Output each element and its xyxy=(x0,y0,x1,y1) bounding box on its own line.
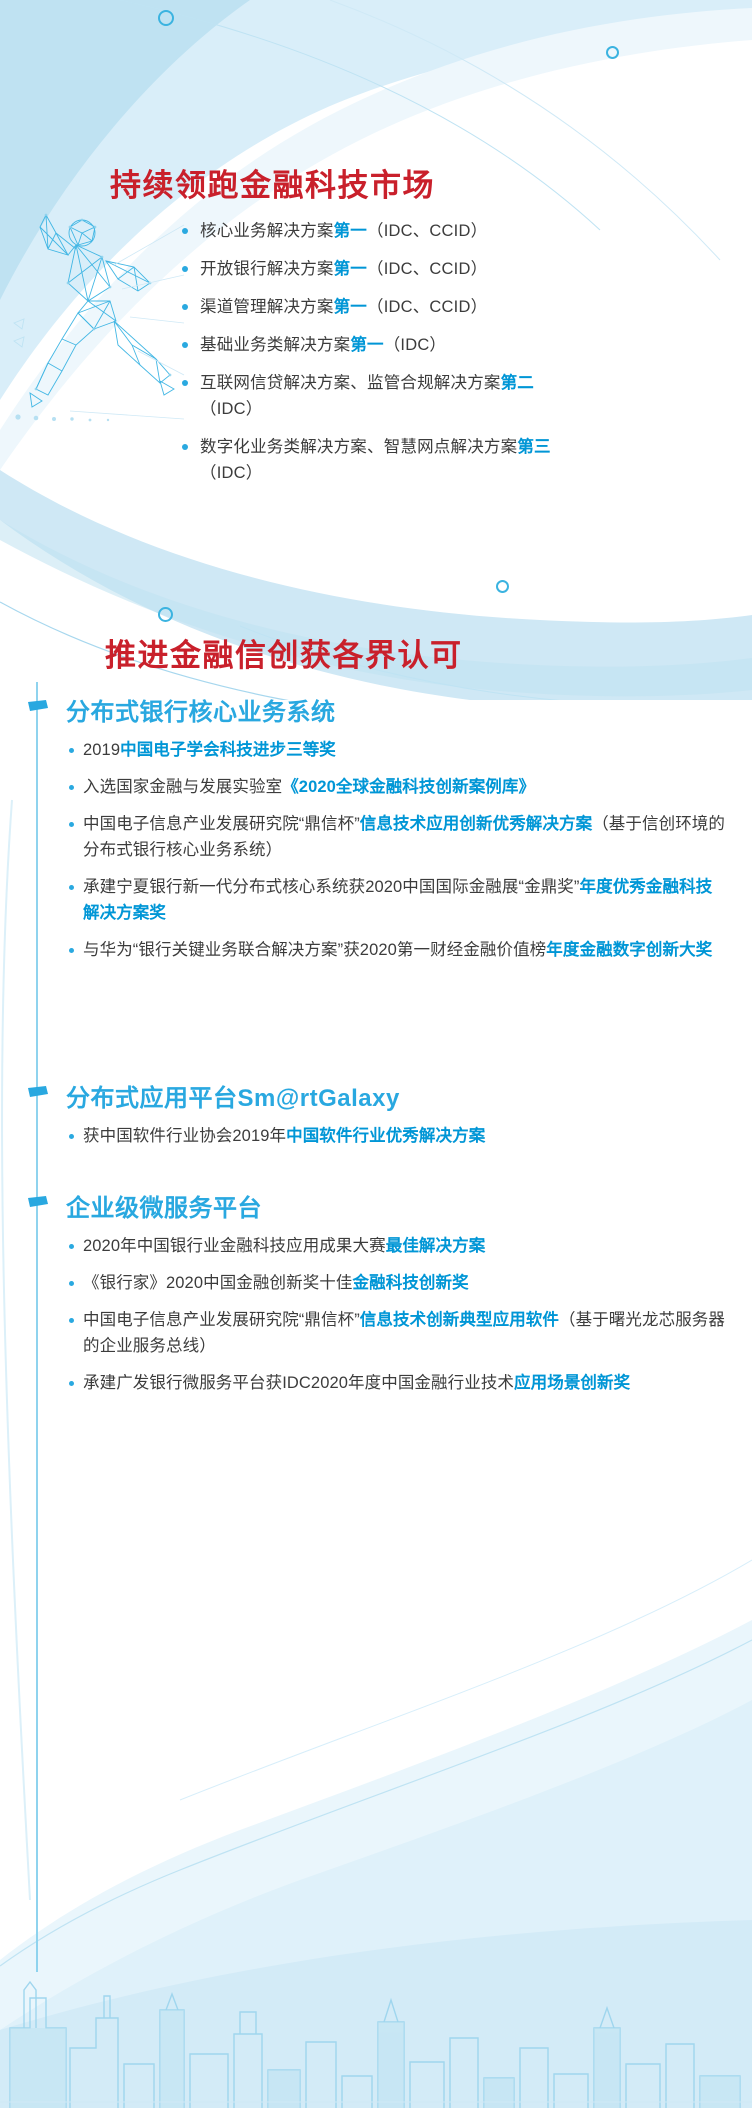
section1-bullet: 数字化业务类解决方案、智慧网点解决方案第三（IDC） xyxy=(178,434,578,486)
bullet-rank: 第一 xyxy=(334,222,367,240)
award-bullet: 承建广发银行微服务平台获IDC2020年度中国金融行业技术应用场景创新奖 xyxy=(66,1370,728,1396)
award-bullet: 与华为“银行关键业务联合解决方案”获2020第一财经金融价值榜年度金融数字创新大… xyxy=(66,937,728,963)
award-bullet: 2019中国电子学会科技进步三等奖 xyxy=(66,737,728,763)
bullet-rank: 第一 xyxy=(350,336,383,354)
award-bullet: 《银行家》2020中国金融创新奖十佳金融科技创新奖 xyxy=(66,1270,728,1296)
bullet-text: 渠道管理解决方案 xyxy=(200,298,334,316)
bullet-source: （IDC、CCID） xyxy=(367,260,487,278)
timeline-marker-icon xyxy=(28,1196,48,1208)
award-context: 中国电子信息产业发展研究院“鼎信杯” xyxy=(83,815,360,833)
award-name: 应用场景创新奖 xyxy=(514,1374,630,1392)
running-figure-wireframe xyxy=(10,205,185,435)
section1-bullet: 渠道管理解决方案第一（IDC、CCID） xyxy=(178,294,578,320)
section1-bullet: 基础业务类解决方案第一（IDC） xyxy=(178,332,578,358)
group-bullet-list: 获中国软件行业协会2019年中国软件行业优秀解决方案 xyxy=(0,1123,752,1149)
section2-title: 推进金融信创获各界认可 xyxy=(105,630,463,675)
bullet-text: 开放银行解决方案 xyxy=(200,260,334,278)
section1-bullet: 互联网信贷解决方案、监管合规解决方案第二（IDC） xyxy=(178,370,578,422)
bullet-rank: 第二 xyxy=(501,374,534,392)
section1-bullet-list: 核心业务解决方案第一（IDC、CCID）开放银行解决方案第一（IDC、CCID）… xyxy=(178,218,578,498)
award-bullet: 获中国软件行业协会2019年中国软件行业优秀解决方案 xyxy=(66,1123,728,1149)
bullet-text: 核心业务解决方案 xyxy=(200,222,334,240)
bullet-source: （IDC） xyxy=(384,336,446,354)
award-name: 金融科技创新奖 xyxy=(353,1274,469,1292)
bullet-rank: 第一 xyxy=(334,298,367,316)
section1-title: 持续领跑金融科技市场 xyxy=(110,160,435,205)
bullet-rank: 第一 xyxy=(334,260,367,278)
bullet-rank: 第三 xyxy=(517,438,550,456)
award-context: 承建宁夏银行新一代分布式核心系统获2020中国国际金融展“金鼎奖” xyxy=(83,878,580,896)
award-bullet: 中国电子信息产业发展研究院“鼎信杯”信息技术应用创新优秀解决方案（基于信创环境的… xyxy=(66,811,728,863)
bullet-source: （IDC、CCID） xyxy=(367,298,487,316)
poster-canvas: 持续领跑金融科技市场 核心业务解决方案第一（IDC、CCID）开放银行解决方案第… xyxy=(0,0,752,2108)
bullet-source: （IDC、CCID） xyxy=(367,222,487,240)
recognition-group: 分布式应用平台Sm@rtGalaxy获中国软件行业协会2019年中国软件行业优秀… xyxy=(0,1078,752,1160)
group-bullet-list: 2020年中国银行业金融科技应用成果大赛最佳解决方案《银行家》2020中国金融创… xyxy=(0,1233,752,1396)
group-bullet-list: 2019中国电子学会科技进步三等奖入选国家金融与发展实验室《2020全球金融科技… xyxy=(0,737,752,963)
award-name: 信息技术应用创新优秀解决方案 xyxy=(360,815,592,833)
section1-bullet: 开放银行解决方案第一（IDC、CCID） xyxy=(178,256,578,282)
group-heading: 企业级微服务平台 xyxy=(0,1188,752,1223)
recognition-group: 企业级微服务平台2020年中国银行业金融科技应用成果大赛最佳解决方案《银行家》2… xyxy=(0,1188,752,1407)
group-heading: 分布式银行核心业务系统 xyxy=(0,692,752,727)
award-context: 《银行家》2020中国金融创新奖十佳 xyxy=(83,1274,353,1292)
bullet-source: （IDC） xyxy=(200,464,262,482)
award-context: 承建广发银行微服务平台获IDC2020年度中国金融行业技术 xyxy=(83,1374,514,1392)
award-context: 2020年中国银行业金融科技应用成果大赛 xyxy=(83,1237,386,1255)
award-bullet: 入选国家金融与发展实验室《2020全球金融科技创新案例库》 xyxy=(66,774,728,800)
recognition-group: 分布式银行核心业务系统2019中国电子学会科技进步三等奖入选国家金融与发展实验室… xyxy=(0,692,752,974)
award-bullet: 2020年中国银行业金融科技应用成果大赛最佳解决方案 xyxy=(66,1233,728,1259)
bullet-source: （IDC） xyxy=(200,400,262,418)
bullet-text: 数字化业务类解决方案、智慧网点解决方案 xyxy=(200,438,517,456)
section-market-leadership: 持续领跑金融科技市场 核心业务解决方案第一（IDC、CCID）开放银行解决方案第… xyxy=(0,0,752,600)
award-name: 《2020全球金融科技创新案例库》 xyxy=(282,778,535,796)
award-context: 获中国软件行业协会2019年 xyxy=(83,1127,286,1145)
city-skyline-icon xyxy=(0,1878,752,2108)
timeline-marker-icon xyxy=(28,700,48,712)
award-bullet: 中国电子信息产业发展研究院“鼎信杯”信息技术创新典型应用软件（基于曙光龙芯服务器… xyxy=(66,1307,728,1359)
award-name: 中国软件行业优秀解决方案 xyxy=(286,1127,485,1145)
award-name: 信息技术创新典型应用软件 xyxy=(360,1311,559,1329)
award-context: 与华为“银行关键业务联合解决方案”获2020第一财经金融价值榜 xyxy=(83,941,546,959)
award-name: 年度金融数字创新大奖 xyxy=(546,941,712,959)
award-name: 中国电子学会科技进步三等奖 xyxy=(120,741,336,759)
award-context: 2019 xyxy=(83,741,120,759)
timeline-marker-icon xyxy=(28,1086,48,1098)
group-heading: 分布式应用平台Sm@rtGalaxy xyxy=(0,1078,752,1113)
bullet-text: 基础业务类解决方案 xyxy=(200,336,350,354)
award-context: 入选国家金融与发展实验室 xyxy=(83,778,282,796)
section1-bullet: 核心业务解决方案第一（IDC、CCID） xyxy=(178,218,578,244)
bullet-text: 互联网信贷解决方案、监管合规解决方案 xyxy=(200,374,501,392)
award-name: 最佳解决方案 xyxy=(386,1237,486,1255)
award-context: 中国电子信息产业发展研究院“鼎信杯” xyxy=(83,1311,360,1329)
award-bullet: 承建宁夏银行新一代分布式核心系统获2020中国国际金融展“金鼎奖”年度优秀金融科… xyxy=(66,874,728,926)
